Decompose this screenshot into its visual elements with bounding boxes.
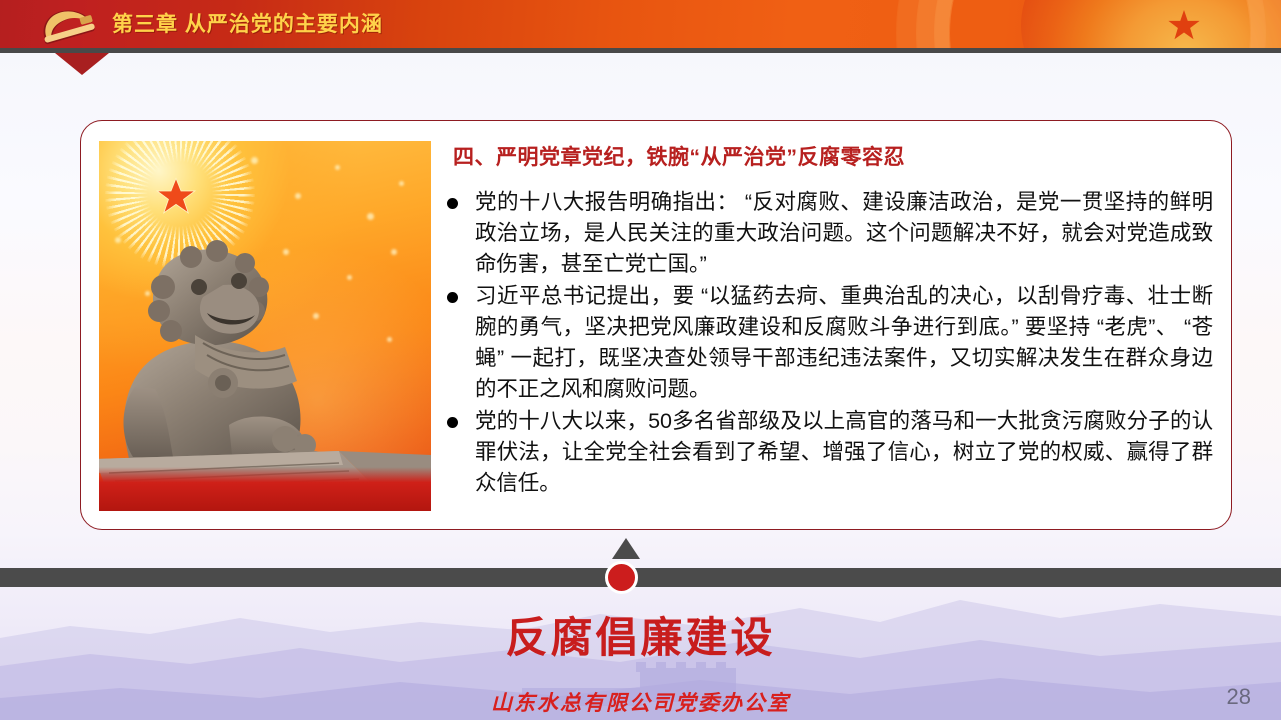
card-body: 四、严明党章党纪，铁腕“从严治党”反腐零容忍 党的十八大报告明确指出： “反对腐…	[443, 141, 1213, 500]
red-dot-icon	[605, 561, 638, 594]
party-hammer-sickle-emblem-icon	[36, 3, 102, 45]
header-rings-decoration	[949, 0, 1251, 48]
bullet-list: 党的十八大报告明确指出： “反对腐败、建设廉洁政治，是党一贯坚持的鲜明政治立场，…	[443, 187, 1213, 499]
slide-root: 第三章 从严治党的主要内涵	[0, 0, 1281, 720]
bullet-item: 党的十八大报告明确指出： “反对腐败、建设廉洁政治，是党一贯坚持的鲜明政治立场，…	[443, 187, 1213, 280]
red-cloth-decoration	[99, 467, 431, 511]
up-triangle-icon	[612, 538, 640, 559]
guardian-lion-photo	[99, 141, 431, 511]
divider-bar	[0, 568, 1281, 587]
header-ribbon-marker	[55, 53, 109, 75]
bullet-item: 党的十八大以来，50多名省部级及以上高官的落马和一大批贪污腐败分子的认罪伏法，让…	[443, 406, 1213, 499]
content-card: 四、严明党章党纪，铁腕“从严治党”反腐零容忍 党的十八大报告明确指出： “反对腐…	[80, 120, 1232, 530]
header-underline	[0, 48, 1281, 53]
page-number: 28	[1227, 684, 1251, 710]
organization-name: 山东水总有限公司党委办公室	[0, 687, 1281, 717]
section-title: 四、严明党章党纪，铁腕“从严治党”反腐零容忍	[453, 141, 1213, 171]
header-bar: 第三章 从严治党的主要内涵	[0, 0, 1281, 48]
bullet-item: 习近平总书记提出，要 “以猛药去疴、重典治乱的决心，以刮骨疗毒、壮士断腕的勇气，…	[443, 281, 1213, 405]
section-heading-bottom: 反腐倡廉建设	[0, 604, 1281, 665]
chapter-title: 第三章 从严治党的主要内涵	[112, 8, 383, 38]
bronze-lion-statue-illustration	[99, 211, 431, 511]
five-point-star-icon	[1167, 8, 1201, 42]
